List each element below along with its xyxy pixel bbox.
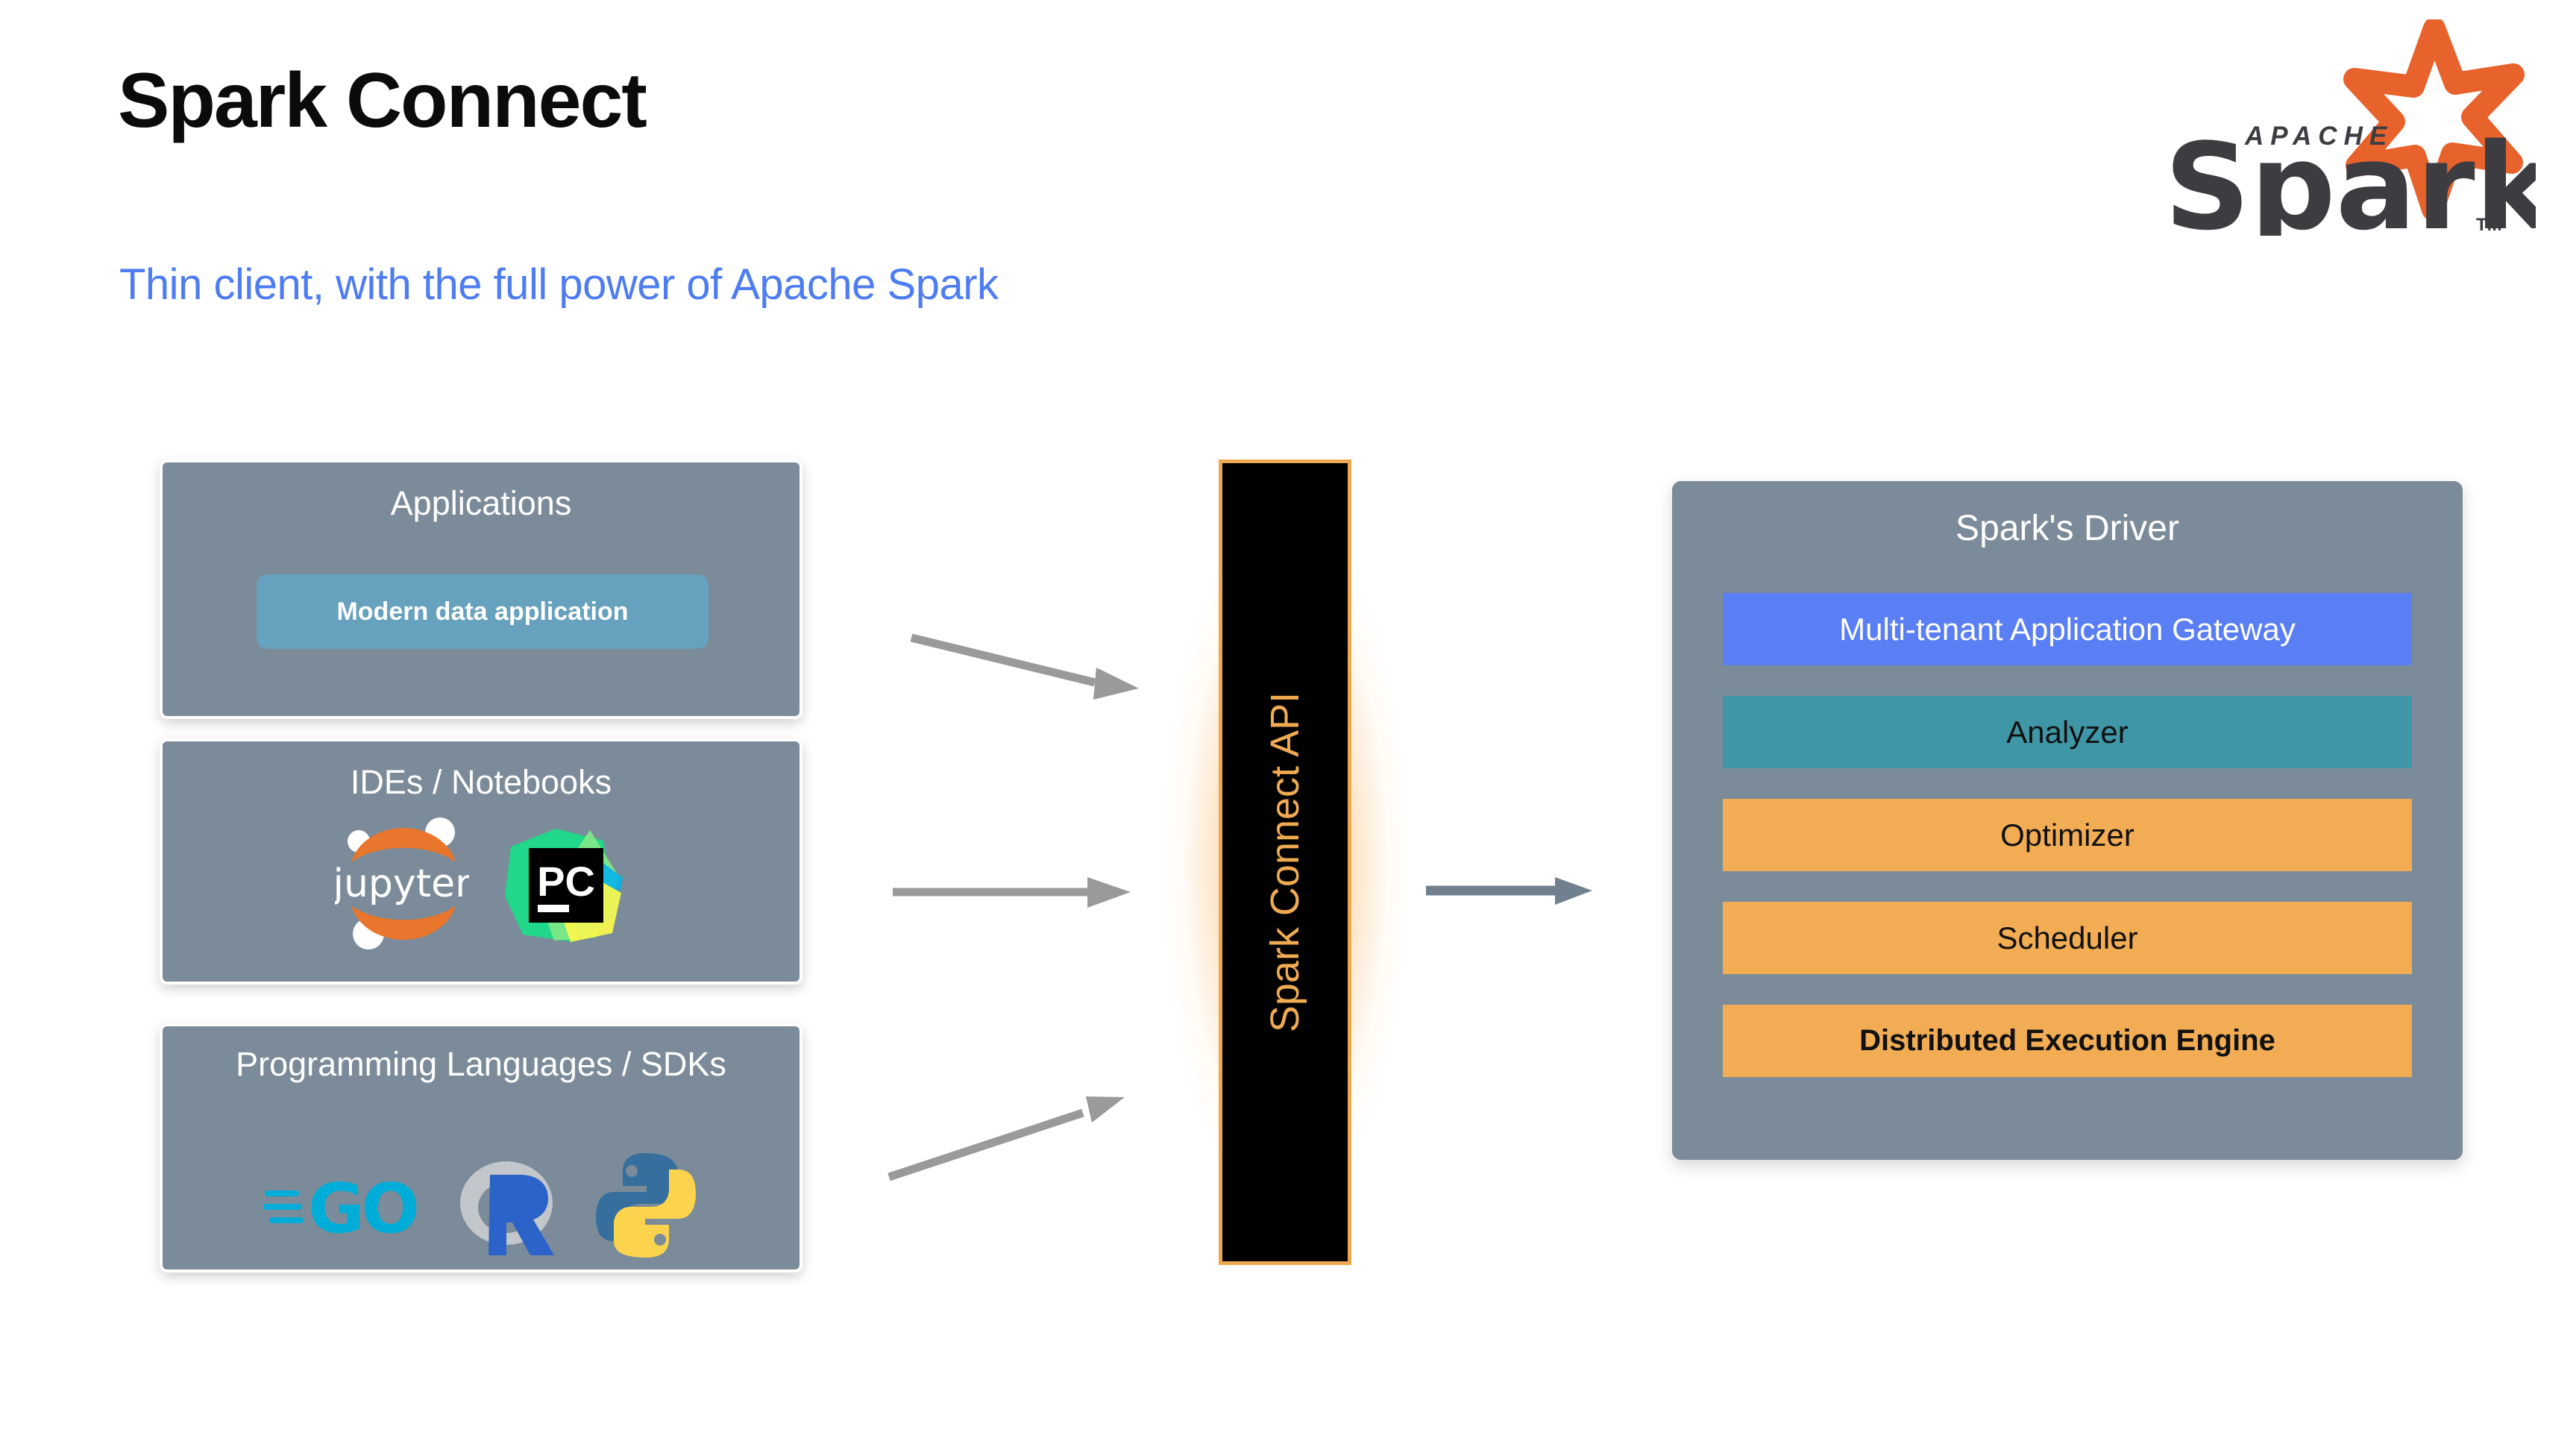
svg-text:GO: GO xyxy=(308,1169,417,1244)
driver-row-execution-engine[interactable]: Distributed Execution Engine xyxy=(1723,1005,2412,1077)
pycharm-logo: PC xyxy=(502,821,627,947)
client-box-ides-notebooks[interactable]: IDEs / Notebooks jupyter xyxy=(160,738,802,985)
client-boxes: Applications Modern data application IDE… xyxy=(160,459,805,1272)
logo-trademark: TM xyxy=(2476,215,2502,235)
client-box-applications[interactable]: Applications Modern data application xyxy=(160,459,802,719)
driver-row-optimizer[interactable]: Optimizer xyxy=(1723,799,2412,871)
driver-row-analyzer[interactable]: Analyzer xyxy=(1723,696,2412,768)
ide-logo-row: jupyter PC xyxy=(163,813,799,955)
svg-text:jupyter: jupyter xyxy=(335,861,469,906)
page-subtitle: Thin client, with the full power of Apac… xyxy=(119,260,999,310)
modern-data-application-chip[interactable]: Modern data application xyxy=(257,574,709,649)
client-box-title: Applications xyxy=(163,483,799,524)
arrow-ides-to-api xyxy=(893,877,1131,908)
go-logo: GO xyxy=(263,1167,420,1244)
apache-spark-logo: APACHE Spark TM xyxy=(2133,19,2536,236)
driver-row-scheduler[interactable]: Scheduler xyxy=(1723,902,2412,974)
spark-connect-api-bar[interactable]: Spark Connect API xyxy=(1219,459,1351,1265)
sparks-driver-panel: Spark's Driver Multi-tenant Application … xyxy=(1672,481,2463,1160)
driver-row-gateway[interactable]: Multi-tenant Application Gateway xyxy=(1723,593,2412,665)
spark-connect-api-label: Spark Connect API xyxy=(1262,692,1308,1032)
driver-component-stack: Multi-tenant Application Gateway Analyze… xyxy=(1723,593,2412,1077)
python-logo xyxy=(593,1150,699,1261)
driver-title: Spark's Driver xyxy=(1672,508,2463,549)
client-box-title: Programming Languages / SDKs xyxy=(163,1044,799,1085)
language-logo-row: GO xyxy=(163,1138,799,1272)
client-box-title: IDEs / Notebooks xyxy=(163,762,799,803)
slide-canvas: Spark Connect Thin client, with the full… xyxy=(0,0,2576,1447)
r-logo xyxy=(447,1149,566,1261)
arrow-applications-to-api xyxy=(911,638,1139,700)
client-box-programming-languages[interactable]: Programming Languages / SDKs GO xyxy=(160,1023,802,1272)
jupyter-logo: jupyter xyxy=(335,816,469,952)
page-title: Spark Connect xyxy=(118,58,646,143)
arrow-languages-to-api xyxy=(889,1096,1125,1177)
svg-text:PC: PC xyxy=(537,858,595,905)
